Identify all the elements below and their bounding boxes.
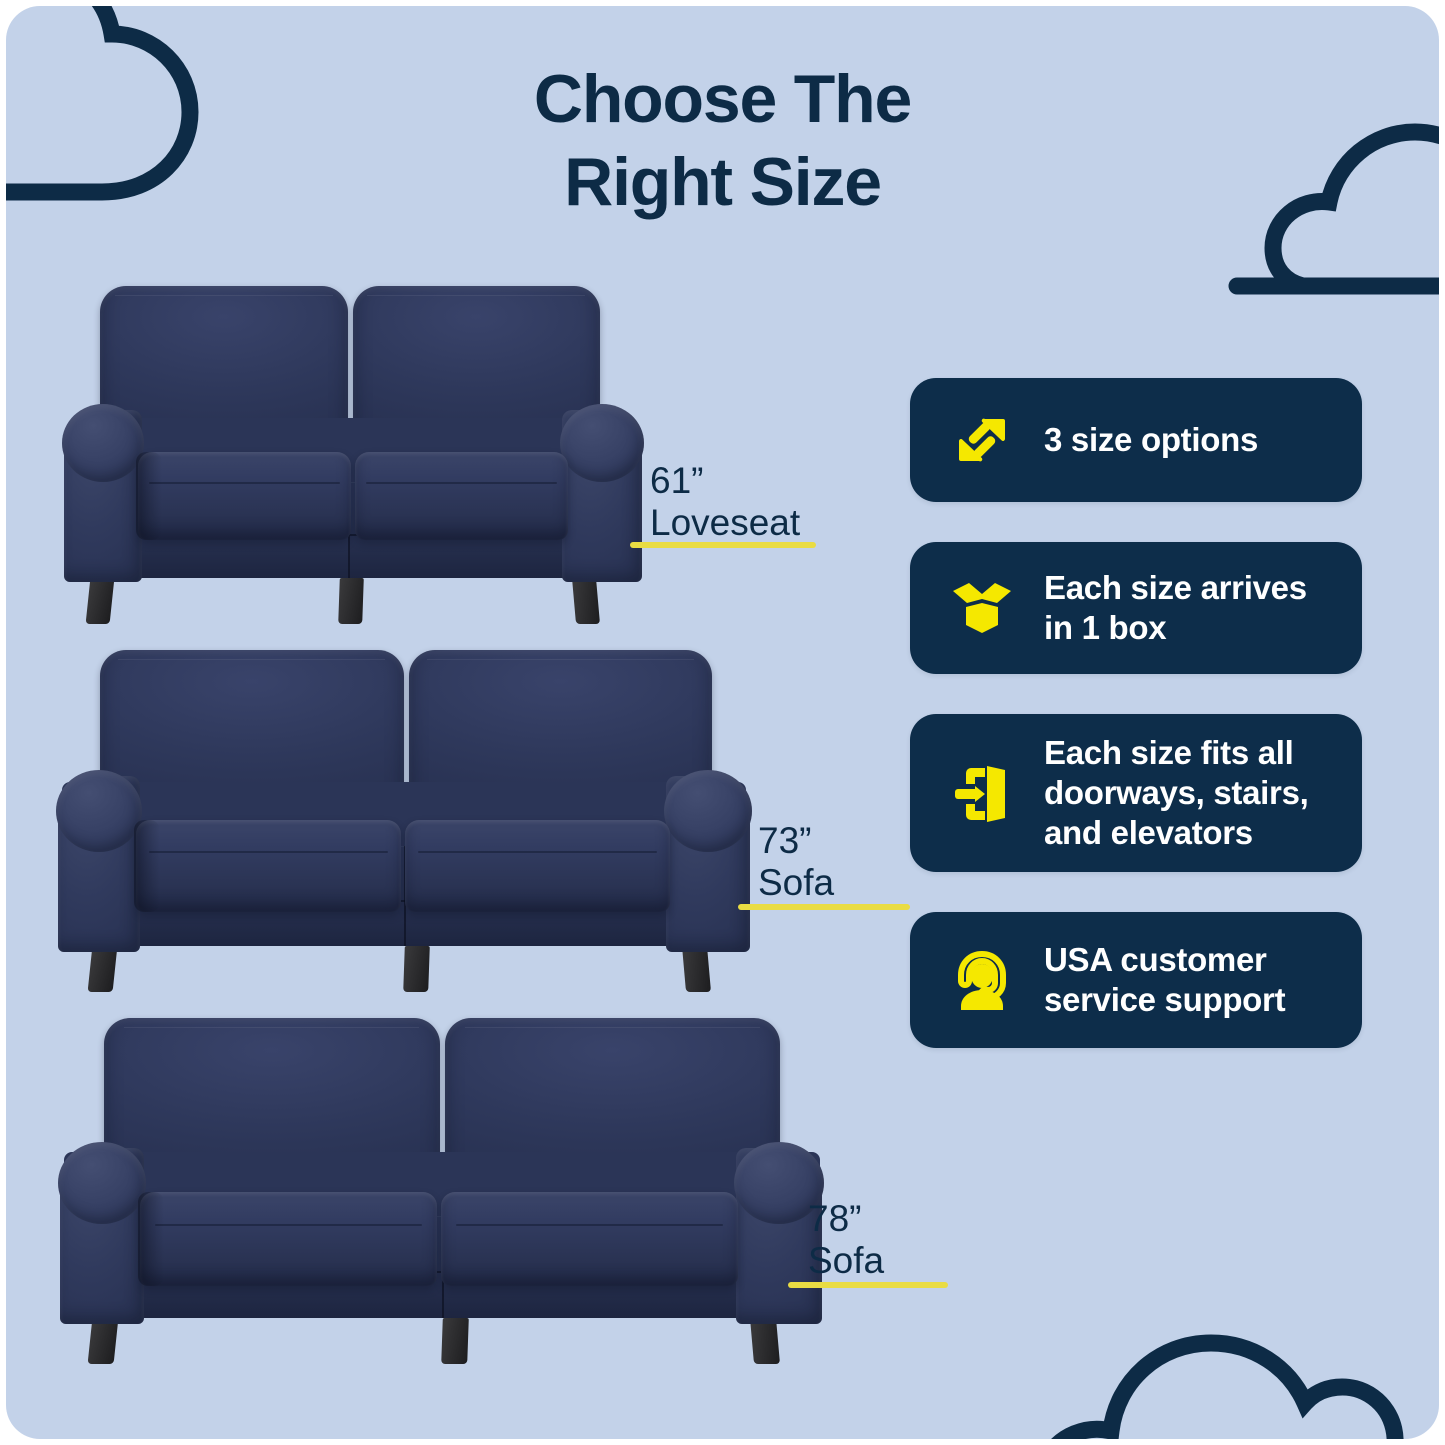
- resize-arrows-icon: [936, 394, 1028, 486]
- feature-line-2: service support: [1044, 980, 1285, 1020]
- sofa-graphic: [54, 284, 654, 624]
- arm-shadow: [136, 452, 162, 540]
- arm-roll-left: [56, 770, 142, 852]
- arm-shadow: [138, 1192, 164, 1286]
- feature-card-customer-support[interactable]: USA customer service support: [910, 912, 1362, 1048]
- feature-line-1: USA customer: [1044, 940, 1285, 980]
- feature-card-text: Each size arrives in 1 box: [1028, 568, 1307, 648]
- arm-roll-left: [62, 404, 144, 482]
- doorway-entry-icon: [936, 747, 1028, 839]
- feature-card-text: Each size fits all doorways, stairs, and…: [1028, 733, 1309, 853]
- sofa-leg: [682, 946, 711, 992]
- size-name: Sofa: [758, 862, 834, 904]
- size-underline: [630, 542, 816, 548]
- arm-roll-right: [560, 404, 644, 482]
- infographic-panel: Choose The Right Size: [6, 6, 1439, 1439]
- arm-roll-left: [58, 1142, 146, 1224]
- sofa-illustration-loveseat-61: 61” Loveseat: [54, 284, 654, 624]
- sofa-leg: [88, 946, 118, 992]
- seat-cushion: [138, 452, 351, 540]
- feature-card-fits-doorways[interactable]: Each size fits all doorways, stairs, and…: [910, 714, 1362, 872]
- size-measure: 61”: [650, 460, 800, 502]
- size-label-sofa-78: 78” Sofa: [808, 1198, 884, 1282]
- feature-card-text: 3 size options: [1028, 420, 1258, 460]
- feature-line-1: 3 size options: [1044, 420, 1258, 460]
- feature-line-2: doorways, stairs,: [1044, 773, 1309, 813]
- seat-cushion: [405, 820, 670, 912]
- sofa-seat-cushions: [138, 452, 568, 540]
- feature-card-size-options[interactable]: 3 size options: [910, 378, 1362, 502]
- arm-shadow: [134, 820, 160, 912]
- sofa-illustration-sofa-73: 73” Sofa: [44, 646, 764, 992]
- size-underline: [788, 1282, 948, 1288]
- feature-line-3: and elevators: [1044, 813, 1309, 853]
- size-name: Loveseat: [650, 502, 800, 544]
- sofa-illustration-sofa-78: 78” Sofa: [46, 1014, 836, 1364]
- seat-cushion: [441, 1192, 738, 1286]
- size-underline: [738, 904, 910, 910]
- sofa-seat-cushions: [136, 820, 670, 912]
- size-label-loveseat-61: 61” Loveseat: [650, 460, 800, 544]
- feature-line-1: Each size arrives: [1044, 568, 1307, 608]
- sofa-graphic: [44, 646, 764, 992]
- size-measure: 78”: [808, 1198, 884, 1240]
- title-line-1: Choose The: [6, 58, 1439, 141]
- seat-cushion: [140, 1192, 437, 1286]
- size-measure: 73”: [758, 820, 834, 862]
- page-title: Choose The Right Size: [6, 58, 1439, 224]
- sofa-leg: [88, 1318, 119, 1364]
- sofa-graphic: [46, 1014, 836, 1364]
- title-line-2: Right Size: [6, 141, 1439, 224]
- sofa-leg: [338, 578, 364, 624]
- open-box-icon: [936, 562, 1028, 654]
- headset-agent-icon: [936, 934, 1028, 1026]
- sofa-leg: [572, 578, 600, 624]
- sofa-leg: [86, 578, 115, 624]
- feature-line-1: Each size fits all: [1044, 733, 1309, 773]
- sofa-leg: [441, 1318, 469, 1364]
- cloud-outline-icon: [1039, 1281, 1439, 1439]
- size-label-sofa-73: 73” Sofa: [758, 820, 834, 904]
- seat-cushion: [136, 820, 401, 912]
- feature-card-text: USA customer service support: [1028, 940, 1285, 1020]
- sofa-leg: [403, 946, 430, 992]
- feature-card-list: 3 size options Each size arrives in 1 bo…: [910, 378, 1362, 1088]
- infographic-root: Choose The Right Size: [0, 0, 1445, 1445]
- sofa-leg: [750, 1318, 780, 1364]
- arm-roll-right: [664, 770, 752, 852]
- feature-line-2: in 1 box: [1044, 608, 1307, 648]
- sofa-seat-cushions: [140, 1192, 738, 1286]
- seat-cushion: [355, 452, 568, 540]
- size-name: Sofa: [808, 1240, 884, 1282]
- feature-card-one-box[interactable]: Each size arrives in 1 box: [910, 542, 1362, 674]
